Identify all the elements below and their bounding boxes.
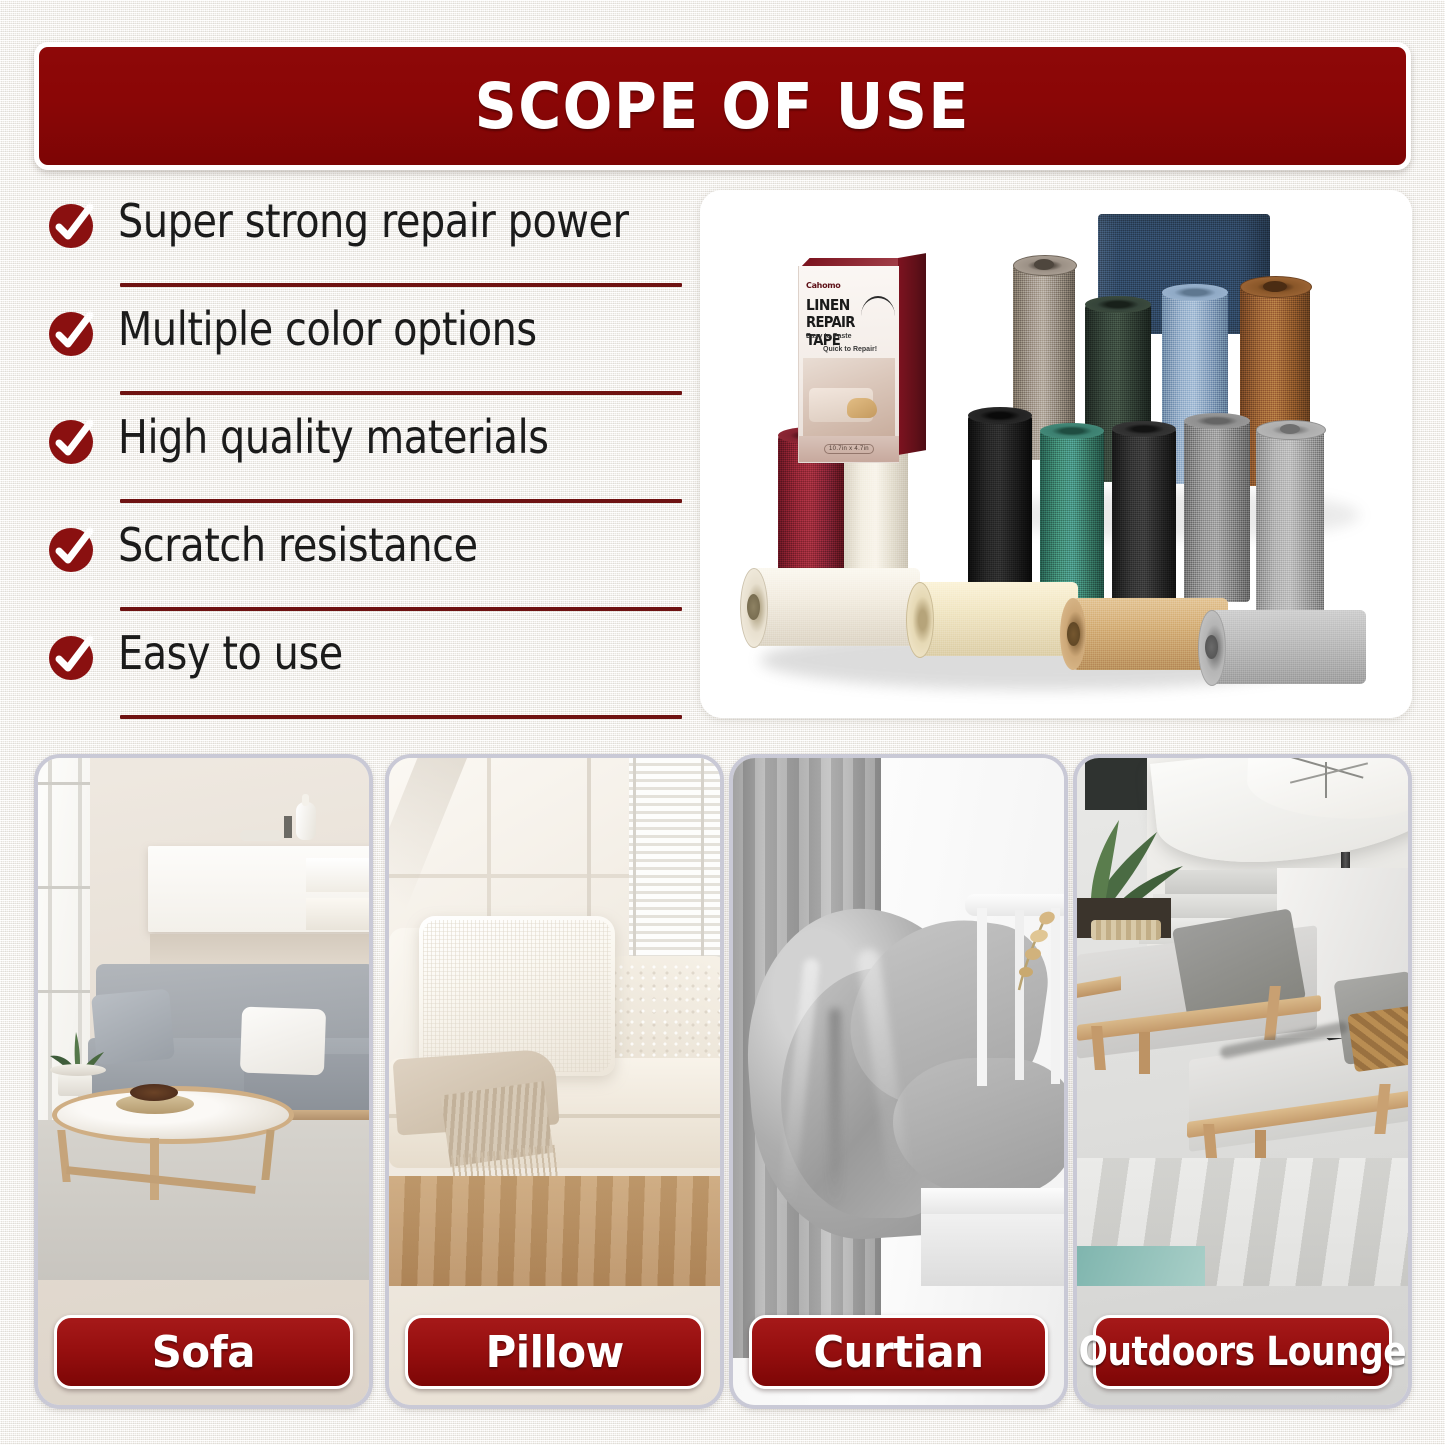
scene-card-pillow[interactable]: Pillow [385,754,724,1409]
pillow-photo [389,758,720,1405]
tape-roll-teal [1040,430,1104,602]
package-tagline-1: Easy to Paste [806,333,852,340]
feature-item-4: Easy to use [38,624,688,732]
outdoors-lounge-photo [1077,758,1408,1405]
scene-label: Curtian [813,1327,983,1378]
scene-label-badge: Sofa [54,1315,353,1389]
scene-label: Outdoors Lounge [1079,1329,1407,1375]
package-dog-graphic [847,398,877,418]
product-photo-panel: Cahomo LINEN REPAIR TAPE Easy to Paste Q… [700,190,1412,718]
scene-label-badge: Pillow [405,1315,704,1389]
package-title-line1: LINEN [806,296,850,314]
feature-item-2: High quality materials [38,408,688,516]
feature-list: Super strong repair power Multiple color… [38,192,688,732]
tape-roll-cream-front [752,568,920,646]
check-circle-icon [46,524,96,574]
check-circle-icon [46,632,96,682]
check-circle-icon [46,416,96,466]
page-title: SCOPE OF USE [475,70,970,143]
feature-divider [120,607,682,611]
curtain-photo [733,758,1064,1405]
scope-of-use-banner: SCOPE OF USE [34,42,1411,170]
feature-divider [120,283,682,287]
feature-label: Multiple color options [118,302,537,356]
feature-label: Super strong repair power [118,194,629,248]
scene-card-outdoors-lounge[interactable]: Outdoors Lounge [1073,754,1412,1409]
scene-label: Pillow [485,1327,623,1378]
feature-item-1: Multiple color options [38,300,688,408]
tape-roll-grey [1184,420,1250,602]
check-circle-icon [46,308,96,358]
tape-roll-silver-front [1210,610,1366,684]
feature-divider [120,499,682,503]
package-dimensions: 10.7in x 4.7in [824,444,874,454]
feature-label: Easy to use [118,626,343,680]
feature-item-3: Scratch resistance [38,516,688,624]
tape-rolls-photo: Cahomo LINEN REPAIR TAPE Easy to Paste Q… [700,190,1412,718]
package-title-line2: REPAIR TAPE [806,313,888,349]
scene-label-badge: Outdoors Lounge [1093,1315,1392,1389]
sofa-photo [38,758,369,1405]
scene-card-curtain[interactable]: Curtian [729,754,1068,1409]
scene-label: Sofa [152,1327,255,1378]
feature-divider [120,391,682,395]
scene-card-sofa[interactable]: Sofa [34,754,373,1409]
tape-roll-black [968,415,1032,600]
scene-label-badge: Curtian [749,1315,1048,1389]
package-front-panel: Cahomo LINEN REPAIR TAPE Easy to Paste Q… [798,266,899,463]
brand-logo: Cahomo [806,281,841,290]
feature-label: Scratch resistance [118,518,478,572]
package-side-panel [898,253,926,455]
package-lifestyle-image [803,358,895,436]
feature-divider [120,715,682,719]
package-bottom-band: 10.7in x 4.7in [799,436,899,462]
package-tagline-2: Quick to Repair! [823,346,877,353]
tape-roll-light-grey [1256,428,1324,620]
product-package-box: Cahomo LINEN REPAIR TAPE Easy to Paste Q… [798,258,926,463]
feature-label: High quality materials [118,410,549,464]
check-circle-icon [46,200,96,250]
tape-roll-beige-front [918,582,1078,656]
feature-item-0: Super strong repair power [38,192,688,300]
tape-roll-charcoal [1112,428,1176,606]
